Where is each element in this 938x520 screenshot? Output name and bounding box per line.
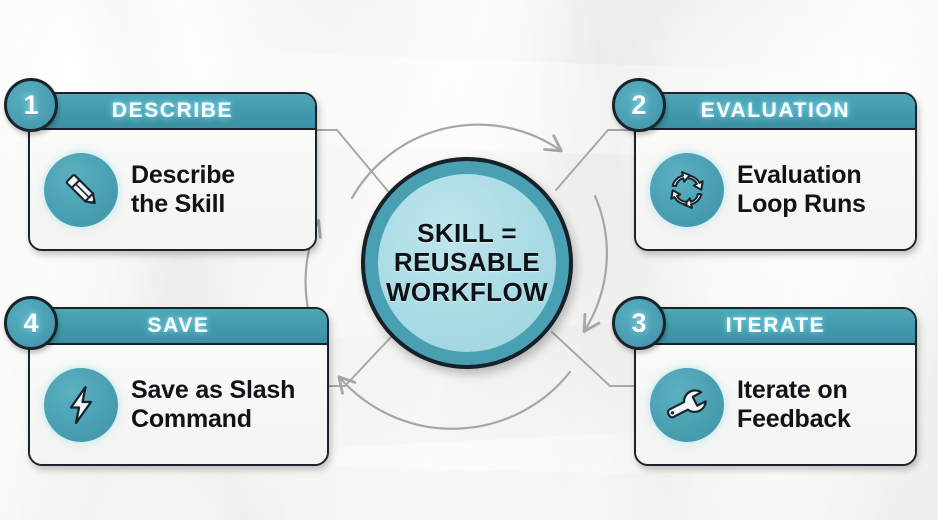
step-card-evaluation[interactable]: EVALUATION Evaluation Loop Runs xyxy=(634,92,917,251)
step-number-badge-1: 1 xyxy=(4,78,58,132)
arrow-2-to-3 xyxy=(585,196,607,330)
step-header-iterate: ITERATE xyxy=(636,309,915,345)
step-card-describe[interactable]: DESCRIBE Describe the Skill xyxy=(28,92,317,251)
step-body-line-2: the Skill xyxy=(131,190,235,219)
center-line-2: REUSABLE xyxy=(394,248,540,277)
step-body-line-1: Save as Slash xyxy=(131,376,295,405)
center-hub-inner: SKILL = REUSABLE WORKFLOW xyxy=(378,174,556,352)
wrench-icon xyxy=(650,368,724,442)
step-body-text: Evaluation Loop Runs xyxy=(737,161,866,218)
pencil-icon xyxy=(44,153,118,227)
step-body-describe: Describe the Skill xyxy=(30,130,315,249)
step-header-save: SAVE xyxy=(30,309,327,345)
lightning-bolt-icon xyxy=(44,368,118,442)
step-card-save[interactable]: SAVE Save as Slash Command xyxy=(28,307,329,466)
step-number-badge-4: 4 xyxy=(4,296,58,350)
step-body-line-2: Feedback xyxy=(737,405,851,434)
connector-card4 xyxy=(325,336,392,386)
step-body-line-1: Evaluation xyxy=(737,161,866,190)
diagram-canvas: SKILL = REUSABLE WORKFLOW DESCRIBE xyxy=(0,0,938,520)
step-body-line-2: Command xyxy=(131,405,295,434)
step-header-label: EVALUATION xyxy=(701,99,850,123)
step-body-save: Save as Slash Command xyxy=(30,345,327,464)
step-header-evaluation: EVALUATION xyxy=(636,94,915,130)
center-line-1: SKILL = xyxy=(417,219,517,248)
step-header-describe: DESCRIBE xyxy=(30,94,315,130)
step-body-text: Save as Slash Command xyxy=(131,376,295,433)
step-header-label: SAVE xyxy=(147,314,209,338)
step-body-evaluation: Evaluation Loop Runs xyxy=(636,130,915,249)
connector-card1 xyxy=(313,130,392,196)
center-line-3: WORKFLOW xyxy=(386,278,548,307)
arrow-3-to-4 xyxy=(340,372,570,429)
step-body-line-2: Loop Runs xyxy=(737,190,866,219)
step-body-iterate: Iterate on Feedback xyxy=(636,345,915,464)
center-hub: SKILL = REUSABLE WORKFLOW xyxy=(361,157,573,369)
step-body-text: Iterate on Feedback xyxy=(737,376,851,433)
step-body-line-1: Iterate on xyxy=(737,376,851,405)
step-body-line-1: Describe xyxy=(131,161,235,190)
step-body-text: Describe the Skill xyxy=(131,161,235,218)
step-number-badge-2: 2 xyxy=(612,78,666,132)
step-number-badge-3: 3 xyxy=(612,296,666,350)
connector-card2 xyxy=(556,130,634,190)
refresh-loop-icon xyxy=(650,153,724,227)
step-card-iterate[interactable]: ITERATE Iterate on Feedback xyxy=(634,307,917,466)
step-header-label: DESCRIBE xyxy=(112,99,233,123)
step-header-label: ITERATE xyxy=(726,314,825,338)
